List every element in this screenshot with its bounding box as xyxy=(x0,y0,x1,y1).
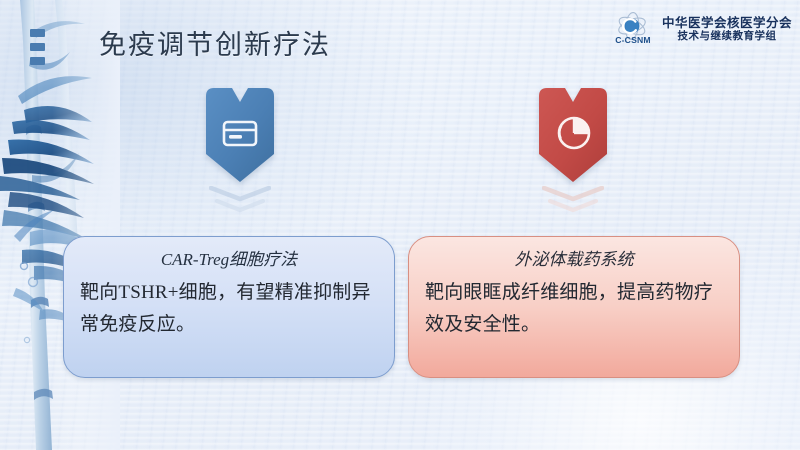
paper-texture xyxy=(0,0,800,450)
card-right-title: 外泌体载药系统 xyxy=(423,247,725,273)
card-left-body: 靶向TSHR+细胞，有望精准抑制异常免疫反应。 xyxy=(78,277,380,341)
slide-canvas: 免疫调节创新疗法 C-CSNM 中华医学会核医学分会 技术与继续教育学组 xyxy=(0,0,800,450)
card-right-body: 靶向眼眶成纤维细胞，提高药物疗效及安全性。 xyxy=(423,277,725,341)
shield-red-shape xyxy=(531,86,615,182)
card-left-title: CAR-Treg细胞疗法 xyxy=(78,247,380,273)
stacked-bars-icon-bar-1 xyxy=(30,29,45,37)
chevron-down-icon-2 xyxy=(215,199,265,214)
shield-badge-left xyxy=(190,86,290,182)
c-csnm-emblem-icon: C-CSNM xyxy=(612,12,656,46)
shield-badge-right xyxy=(523,86,623,182)
logo-text-block: 中华医学会核医学分会 技术与继续教育学组 xyxy=(662,16,792,42)
content-card-right[interactable]: 外泌体载药系统 靶向眼眶成纤维细胞，提高药物疗效及安全性。 xyxy=(408,236,740,378)
shield-red xyxy=(531,86,615,182)
stacked-bars-icon xyxy=(30,29,45,65)
stacked-bars-icon-bar-2 xyxy=(30,43,45,51)
chevron-shadow-left xyxy=(190,184,290,220)
organization-logo: C-CSNM 中华医学会核医学分会 技术与继续教育学组 xyxy=(612,12,792,46)
content-card-left[interactable]: CAR-Treg细胞疗法 靶向TSHR+细胞，有望精准抑制异常免疫反应。 xyxy=(63,236,395,378)
logo-line-1: 中华医学会核医学分会 xyxy=(662,16,792,30)
shield-blue xyxy=(198,86,282,182)
logo-line-2: 技术与继续教育学组 xyxy=(662,30,792,42)
chevron-shadow-right xyxy=(523,184,623,220)
chevron-down-icon-4 xyxy=(548,199,598,214)
credit-card-icon-chip xyxy=(229,135,242,139)
bamboo-ink-painting xyxy=(0,0,120,450)
logo-mark-text: C-CSNM xyxy=(615,35,651,45)
page-title: 免疫调节创新疗法 xyxy=(99,27,331,63)
stacked-bars-icon-bar-3 xyxy=(30,57,45,65)
shield-blue-shape xyxy=(198,86,282,182)
